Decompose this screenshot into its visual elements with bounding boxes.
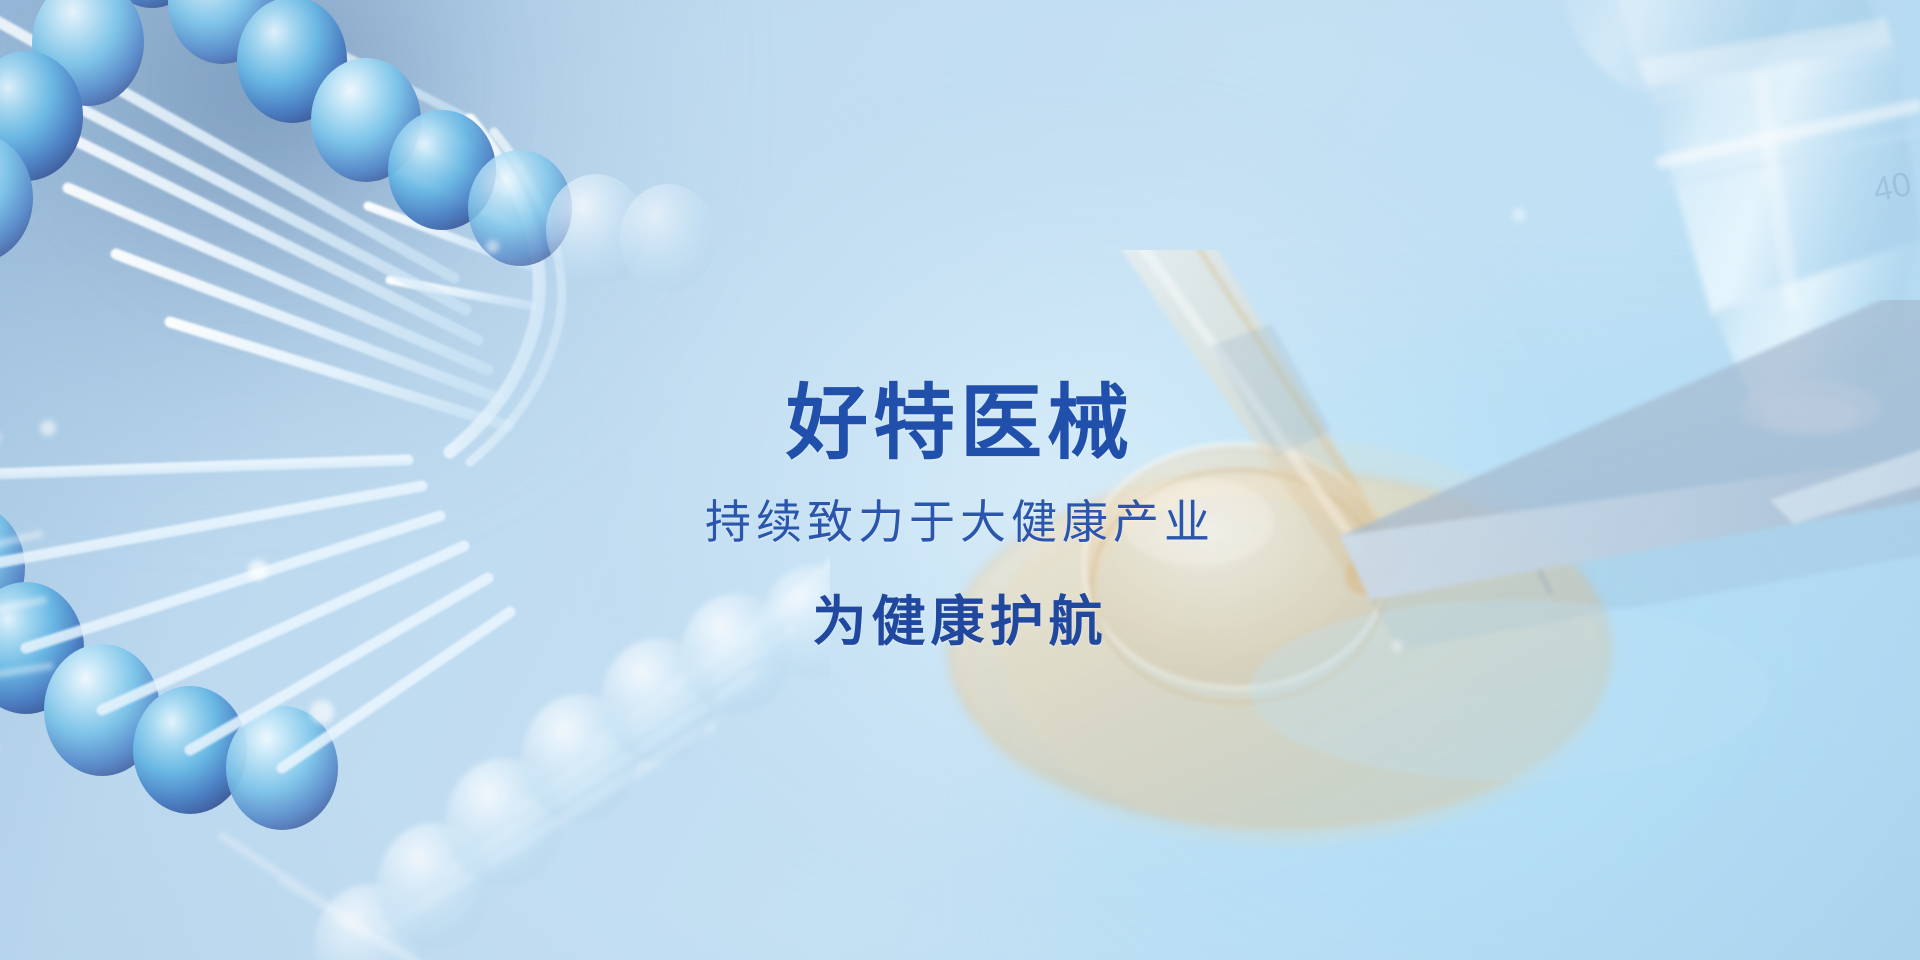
light-speck <box>310 700 334 724</box>
light-speck <box>1512 208 1526 222</box>
light-speck <box>248 560 268 580</box>
background-vignette <box>0 0 1920 960</box>
light-speck <box>1392 640 1403 651</box>
hero-banner: 40 <box>0 0 1920 960</box>
light-speck <box>40 420 56 436</box>
light-speck <box>486 240 499 253</box>
